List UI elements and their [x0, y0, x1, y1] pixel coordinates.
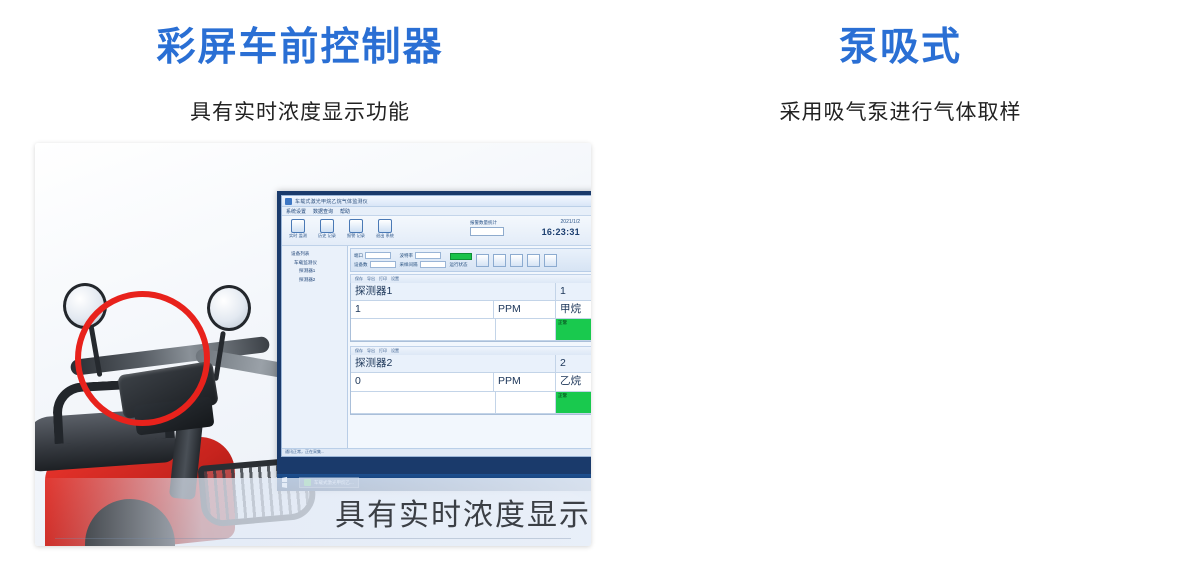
caption-divider [55, 538, 571, 539]
right-heading: 泵吸式 [600, 28, 1201, 67]
device-tree: 设备列表 车载监测仪 探测器1 探测器2 [282, 246, 348, 456]
row-tool-0[interactable]: 保存 [355, 276, 363, 282]
detector2-toolbar: 保存 导出 打印 设置 [350, 346, 591, 355]
left-photo-card: 车载式激光甲烷乙烷气体监测仪 系统设置 数据查询 帮助 实时 监测 [35, 143, 591, 546]
row-tool-2[interactable]: 打印 [379, 276, 387, 282]
detector-index: 1 [556, 283, 591, 300]
toolbar-label-0: 实时 监测 [288, 234, 308, 239]
bar-spacer [496, 392, 556, 413]
status-badge: 正常 [556, 392, 591, 413]
status-badge: 正常 [556, 319, 591, 340]
table-row: 正常 [351, 319, 591, 341]
detector2-grid: 探测器2 2 0 PPM 乙烷 [350, 355, 591, 414]
port-select[interactable] [365, 252, 391, 259]
table-row: 探测器1 1 [351, 283, 591, 301]
bar-spacer [496, 319, 556, 340]
software-window: 车载式激光甲烷乙烷气体监测仪 系统设置 数据查询 帮助 实时 监测 [281, 195, 591, 457]
panel-left: 彩屏车前控制器 具有实时浓度显示功能 [0, 0, 600, 580]
table-row: 1 PPM 甲烷 [351, 301, 591, 319]
menu-item-2[interactable]: 帮助 [340, 208, 350, 215]
clock-group: 2021/1/2 16:23:31 [542, 219, 580, 238]
detector1-toolbar: 保存 导出 打印 设置 [350, 274, 591, 283]
detector-name: 探测器1 [351, 283, 556, 300]
device-count-input[interactable] [370, 261, 396, 268]
mirror-right [207, 285, 251, 331]
software-menu-bar: 系统设置 数据查询 帮助 [282, 207, 591, 216]
highlight-circle [75, 291, 210, 426]
row-tool-0[interactable]: 保存 [355, 348, 363, 354]
gear-icon[interactable] [493, 254, 506, 267]
interval-label: 采样间隔 [400, 262, 418, 268]
bar-spacer [351, 392, 496, 413]
software-title-bar: 车载式激光甲烷乙烷气体监测仪 [282, 196, 591, 207]
bar-spacer [351, 319, 496, 340]
row-tool-1[interactable]: 导出 [367, 276, 375, 282]
alarm-count-input[interactable] [470, 227, 504, 236]
tree-node-0[interactable]: 探测器1 [299, 268, 315, 273]
row-tool-3[interactable]: 设置 [391, 276, 399, 282]
toolbar-label-2: 报警 记录 [346, 234, 366, 239]
software-title: 车载式激光甲烷乙烷气体监测仪 [295, 198, 368, 205]
time-value: 16:23:31 [542, 226, 580, 238]
baud-select[interactable] [415, 252, 441, 259]
detector-unit: PPM [494, 301, 556, 318]
port-label: 端口 [354, 253, 363, 259]
connection-ribbon: 端口 设备数 波特率 采样间隔 运行状态 [350, 248, 591, 272]
detector-index: 2 [556, 355, 591, 372]
toolbar-button-history[interactable]: 历史 记录 [317, 219, 337, 239]
toolbar-button-monitor[interactable]: 实时 监测 [288, 219, 308, 239]
software-main: 端口 设备数 波特率 采样间隔 运行状态 [348, 246, 591, 456]
toolbar-label-1: 历史 记录 [317, 234, 337, 239]
table-row: 0 PPM 乙烷 [351, 373, 591, 391]
row-tool-1[interactable]: 导出 [367, 348, 375, 354]
refresh-icon[interactable] [510, 254, 523, 267]
left-caption-text: 具有实时浓度显示功 [335, 490, 591, 534]
table-row: 正常 [351, 392, 591, 414]
table-row: 探测器2 2 [351, 355, 591, 373]
tree-group[interactable]: 车载监测仪 [285, 259, 344, 268]
detector-value: 1 [351, 301, 494, 318]
device-label: 设备数 [354, 262, 368, 268]
detector-name: 探测器2 [351, 355, 556, 372]
right-subheading: 采用吸气泵进行气体取样 [600, 96, 1201, 126]
row-tool-3[interactable]: 设置 [391, 348, 399, 354]
detector-unit: PPM [494, 373, 556, 390]
network-icon[interactable] [476, 254, 489, 267]
detector-gas: 乙烷 [556, 373, 591, 390]
row-tool-2[interactable]: 打印 [379, 348, 387, 354]
menu-item-1[interactable]: 数据查询 [313, 208, 333, 215]
detector1-grid: 探测器1 1 1 PPM 甲烷 [350, 283, 591, 342]
detector-gas: 甲烷 [556, 301, 591, 318]
baud-label: 波特率 [400, 253, 414, 259]
status-text: 正常 [558, 393, 567, 399]
software-status-bar: 通讯正常，正在采集... [282, 448, 591, 456]
app-icon [285, 198, 292, 205]
status-label: 运行状态 [450, 262, 472, 268]
stop-icon[interactable] [544, 254, 557, 267]
toolbar-button-alarm[interactable]: 报警 记录 [346, 219, 366, 239]
interval-input[interactable] [420, 261, 446, 268]
software-body: 设备列表 车载监测仪 探测器1 探测器2 端口 设备数 [282, 246, 591, 456]
alarm-count-group: 报警数量统计 [470, 220, 504, 236]
connection-status-indicator [450, 253, 472, 260]
tree-root[interactable]: 设备列表 [285, 250, 344, 259]
tree-node-1[interactable]: 探测器2 [299, 277, 315, 282]
exit-icon [378, 219, 392, 233]
left-caption: 具有实时浓度显示功 [35, 478, 591, 546]
alarm-count-label: 报警数量统计 [470, 220, 504, 226]
monitor-icon [291, 219, 305, 233]
date-value: 2021/1/2 [542, 219, 580, 226]
detector-value: 0 [351, 373, 494, 390]
software-screenshot: 车载式激光甲烷乙烷气体监测仪 系统设置 数据查询 帮助 实时 监测 [277, 191, 591, 491]
toolbar-label-3: 退出 系统 [375, 234, 395, 239]
status-text: 正常 [558, 320, 567, 326]
play-icon[interactable] [527, 254, 540, 267]
software-toolbar: 实时 监测 历史 记录 报警 记录 [282, 216, 591, 246]
left-heading: 彩屏车前控制器 [0, 28, 600, 67]
menu-item-0[interactable]: 系统设置 [286, 208, 306, 215]
alarm-list-icon [349, 219, 363, 233]
left-subheading: 具有实时浓度显示功能 [0, 96, 600, 126]
comparison-layout: 彩屏车前控制器 具有实时浓度显示功能 [0, 0, 1201, 580]
panel-right: 泵吸式 采用吸气泵进行气体取样 [600, 0, 1201, 580]
toolbar-button-exit[interactable]: 退出 系统 [375, 219, 395, 239]
history-icon [320, 219, 334, 233]
